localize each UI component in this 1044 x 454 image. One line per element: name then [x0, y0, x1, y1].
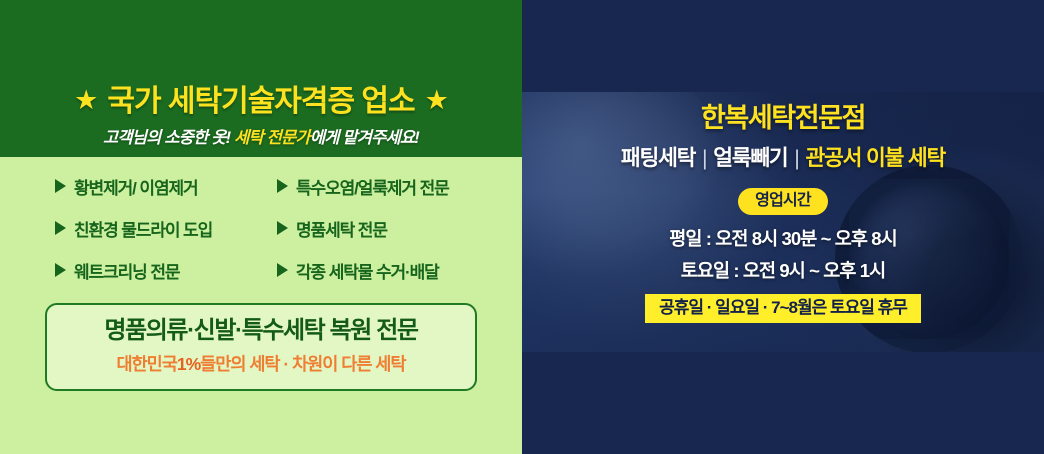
- callout-sub-pre: 대한민국: [116, 354, 176, 374]
- services-line: 패팅세탁 | 얼룩빼기 | 관공서 이불 세탁: [621, 141, 945, 172]
- certification-headline-text: 국가 세탁기술자격증 업소: [107, 86, 414, 118]
- green-header-block: ★ 국가 세탁기술자격증 업소 ★ 고객님의 소중한 옷! 세탁 전문가에게 맡…: [0, 0, 522, 157]
- service-government-bedding: 관공서 이불 세탁: [805, 146, 945, 170]
- subheadline-post: 에게 맡겨주세요!: [310, 129, 419, 147]
- saturday-hours: 토요일 : 오전 9시 ~ 오후 1시: [681, 257, 885, 283]
- triangle-bullet-icon: [55, 263, 66, 277]
- left-green-panel: ★ 국가 세탁기술자격증 업소 ★ 고객님의 소중한 옷! 세탁 전문가에게 맡…: [0, 0, 522, 454]
- feature-list: 황변제거/ 이염제거 특수오염/얼룩제거 전문 친환경 물드라이 도입 명품세탁…: [0, 165, 522, 291]
- feature-item: 특수오염/얼룩제거 전문: [277, 174, 496, 199]
- feature-item: 웨트크리닝 전문: [55, 258, 277, 283]
- closed-days-notice: 공휴일 · 일요일 · 7~8월은 토요일 휴무: [645, 294, 921, 323]
- right-navy-panel: 한복세탁전문점 패팅세탁 | 얼룩빼기 | 관공서 이불 세탁 영업시간 평일 …: [522, 0, 1044, 454]
- feature-item: 명품세탁 전문: [277, 216, 496, 241]
- service-stain-removal: 얼룩빼기: [713, 146, 787, 170]
- feature-item-label: 웨트크리닝 전문: [74, 258, 179, 283]
- right-panel-content: 한복세탁전문점 패팅세탁 | 얼룩빼기 | 관공서 이불 세탁 영업시간 평일 …: [522, 0, 1044, 454]
- certification-headline: ★ 국가 세탁기술자격증 업소 ★: [74, 86, 448, 118]
- callout-sub-percent: 1%: [177, 354, 200, 374]
- specialty-callout-box: 명품의류·신발·특수세탁 복원 전문 대한민국1%들만의 세탁 · 차원이 다른…: [45, 303, 477, 391]
- feature-item: 각종 세탁물 수거·배달: [277, 258, 496, 283]
- header-subheadline: 고객님의 소중한 옷! 세탁 전문가에게 맡겨주세요!: [103, 124, 419, 148]
- callout-sub-post: 들만의 세탁 · 차원이 다른 세탁: [200, 354, 405, 374]
- feature-item: 친환경 물드라이 도입: [55, 216, 277, 241]
- feature-item-label: 특수오염/얼룩제거 전문: [296, 174, 449, 199]
- weekday-hours: 평일 : 오전 8시 30분 ~ 오후 8시: [669, 225, 896, 251]
- service-separator: |: [792, 146, 800, 170]
- star-icon-right: ★: [425, 87, 448, 114]
- feature-item-label: 황변제거/ 이염제거: [74, 174, 198, 199]
- triangle-bullet-icon: [277, 221, 288, 235]
- star-icon-left: ★: [74, 87, 97, 114]
- triangle-bullet-icon: [277, 263, 288, 277]
- feature-item-label: 각종 세탁물 수거·배달: [296, 258, 439, 283]
- triangle-bullet-icon: [55, 179, 66, 193]
- feature-item-label: 친환경 물드라이 도입: [74, 216, 212, 241]
- feature-item-label: 명품세탁 전문: [296, 216, 387, 241]
- feature-item: 황변제거/ 이염제거: [55, 174, 277, 199]
- triangle-bullet-icon: [277, 179, 288, 193]
- laundry-advertisement-banner: ★ 국가 세탁기술자격증 업소 ★ 고객님의 소중한 옷! 세탁 전문가에게 맡…: [0, 0, 1044, 454]
- service-padded-wash: 패팅세탁: [621, 146, 695, 170]
- subheadline-pre: 고객님의 소중한 옷!: [103, 129, 234, 147]
- business-hours-badge: 영업시간: [738, 188, 828, 215]
- subheadline-highlight: 세탁 전문가: [234, 129, 310, 147]
- hanbok-specialty-title: 한복세탁전문점: [701, 104, 865, 134]
- triangle-bullet-icon: [55, 221, 66, 235]
- callout-subtitle: 대한민국1%들만의 세탁 · 차원이 다른 세탁: [116, 351, 405, 376]
- service-separator: |: [700, 146, 708, 170]
- callout-title: 명품의류·신발·특수세탁 복원 전문: [104, 318, 417, 344]
